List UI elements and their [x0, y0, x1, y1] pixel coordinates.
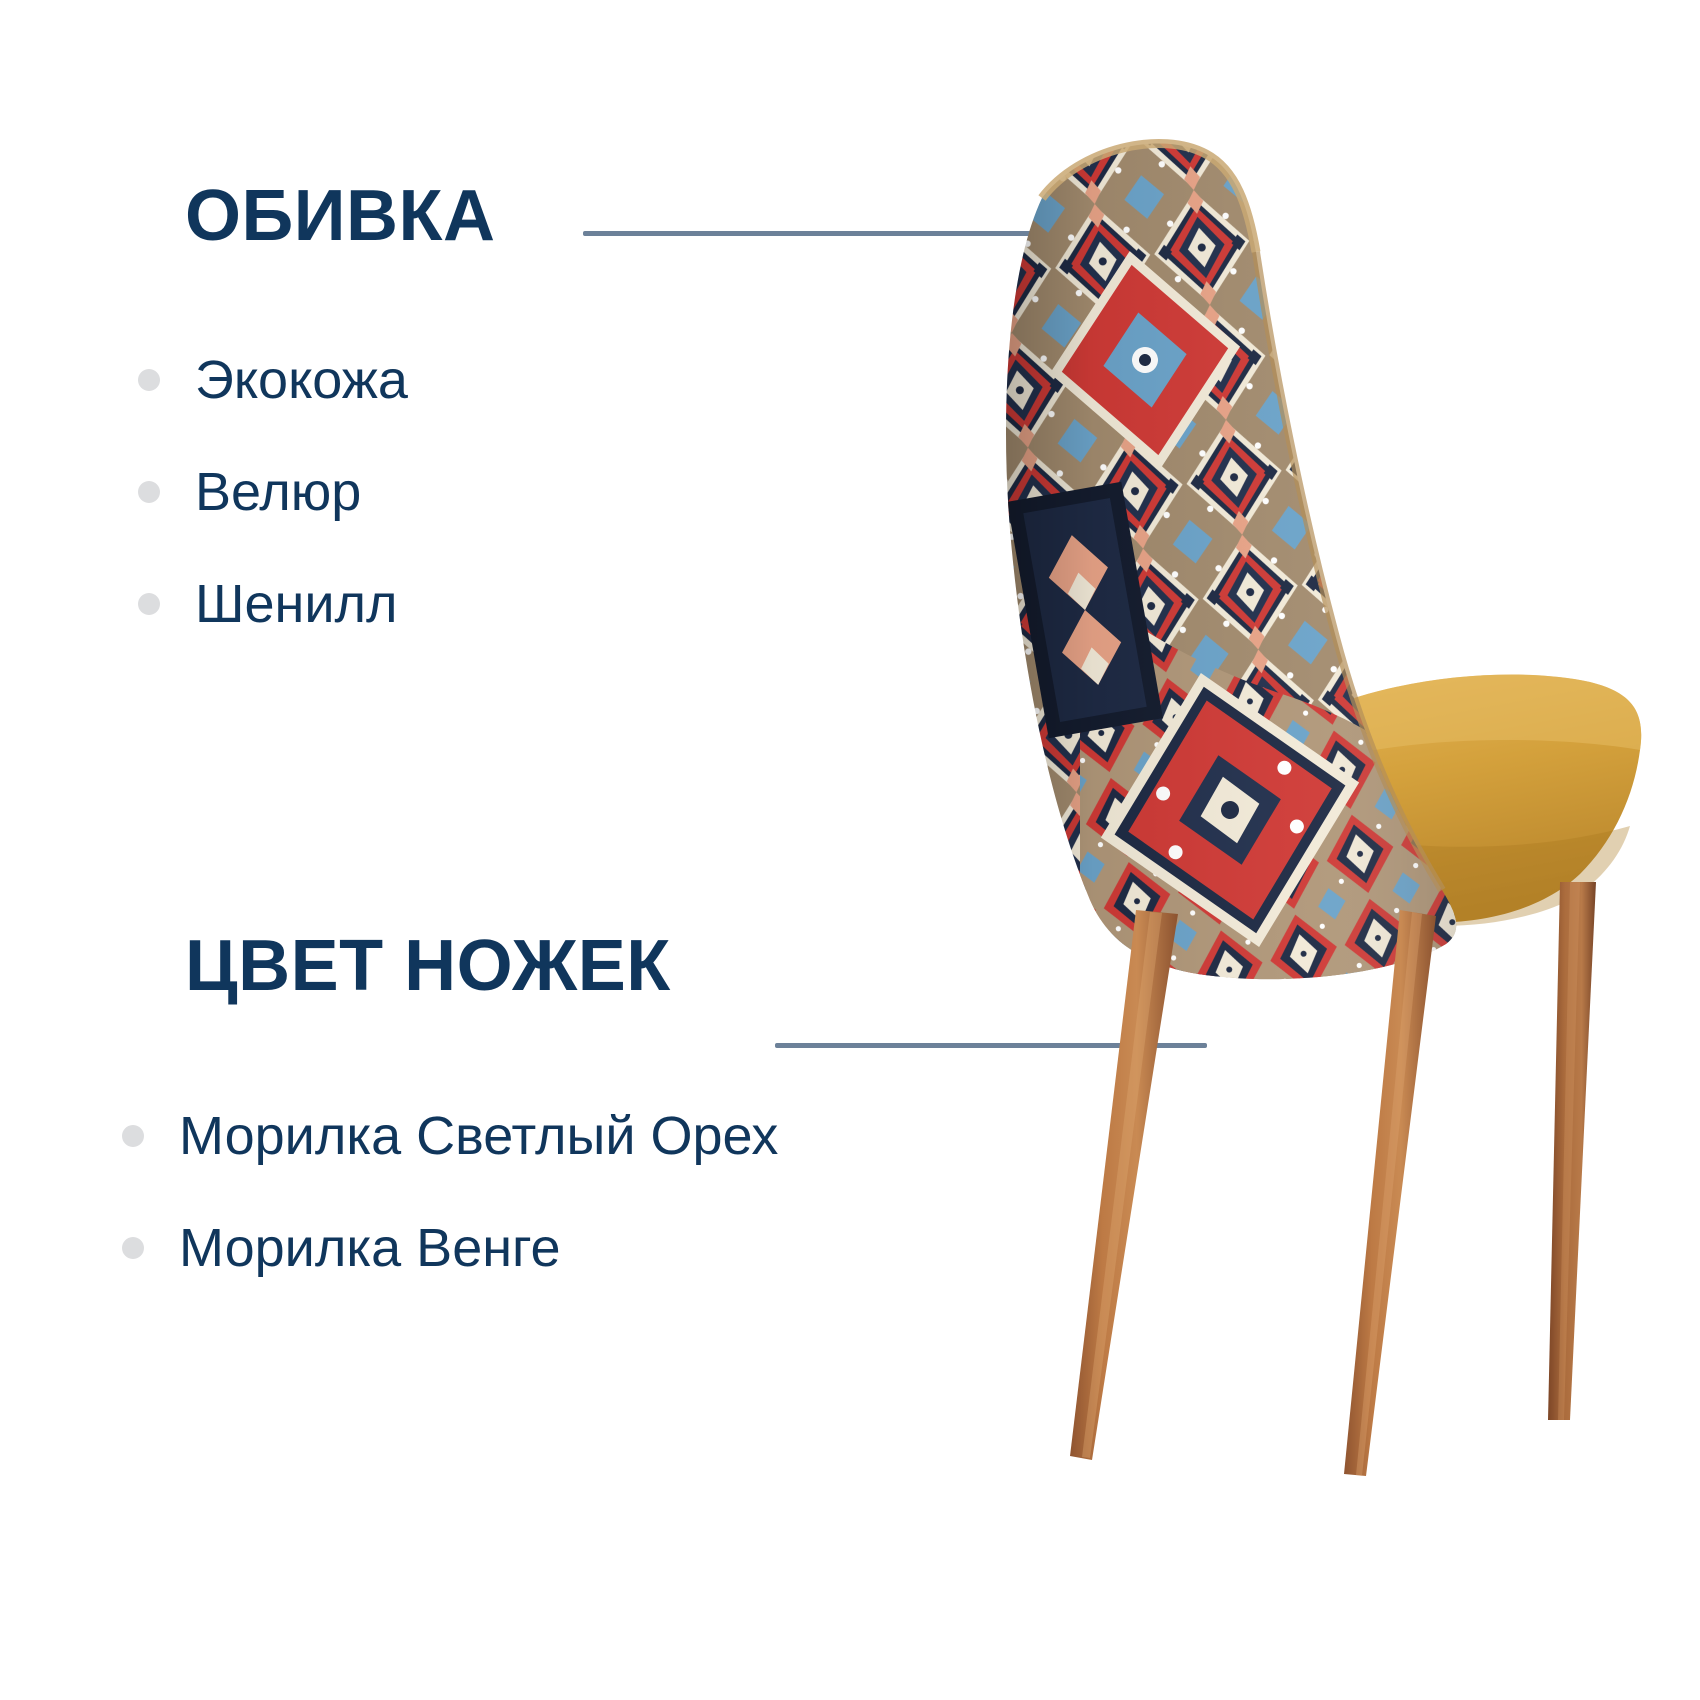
option-label: Морилка Светлый Орех [179, 1109, 778, 1163]
section-upholstery: ОБИВКА Экокожа Велюр Шенилл [0, 180, 980, 660]
list-item[interactable]: Экокожа [0, 324, 980, 436]
poster-canvas: ОБИВКА Экокожа Велюр Шенилл ЦВЕТ НОЖЕК М… [0, 0, 1700, 1700]
option-label: Шенилл [195, 577, 398, 631]
chair-leg-front-right [1344, 910, 1436, 1476]
list-item[interactable]: Шенилл [0, 548, 980, 660]
chair-photo [930, 110, 1660, 1530]
option-label: Велюр [195, 465, 361, 519]
bullet-dot-icon [122, 1237, 144, 1259]
bullet-dot-icon [138, 481, 160, 503]
list-item[interactable]: Морилка Венге [0, 1192, 980, 1304]
bullet-dot-icon [122, 1125, 144, 1147]
chair-leg-rear-right [1548, 882, 1596, 1420]
chair-leg-front-left [1070, 910, 1178, 1460]
bullet-dot-icon [138, 593, 160, 615]
heading-leg-color: ЦВЕТ НОЖЕК [185, 930, 980, 1002]
leg-color-options-list: Морилка Светлый Орех Морилка Венге [0, 1080, 980, 1304]
option-label: Экокожа [195, 353, 408, 407]
section-leg-color: ЦВЕТ НОЖЕК Морилка Светлый Орех Морилка … [0, 930, 980, 1304]
heading-upholstery: ОБИВКА [185, 180, 980, 252]
list-item[interactable]: Велюр [0, 436, 980, 548]
option-label: Морилка Венге [179, 1221, 561, 1275]
list-item[interactable]: Морилка Светлый Орех [0, 1080, 980, 1192]
bullet-dot-icon [138, 369, 160, 391]
upholstery-options-list: Экокожа Велюр Шенилл [0, 324, 980, 660]
